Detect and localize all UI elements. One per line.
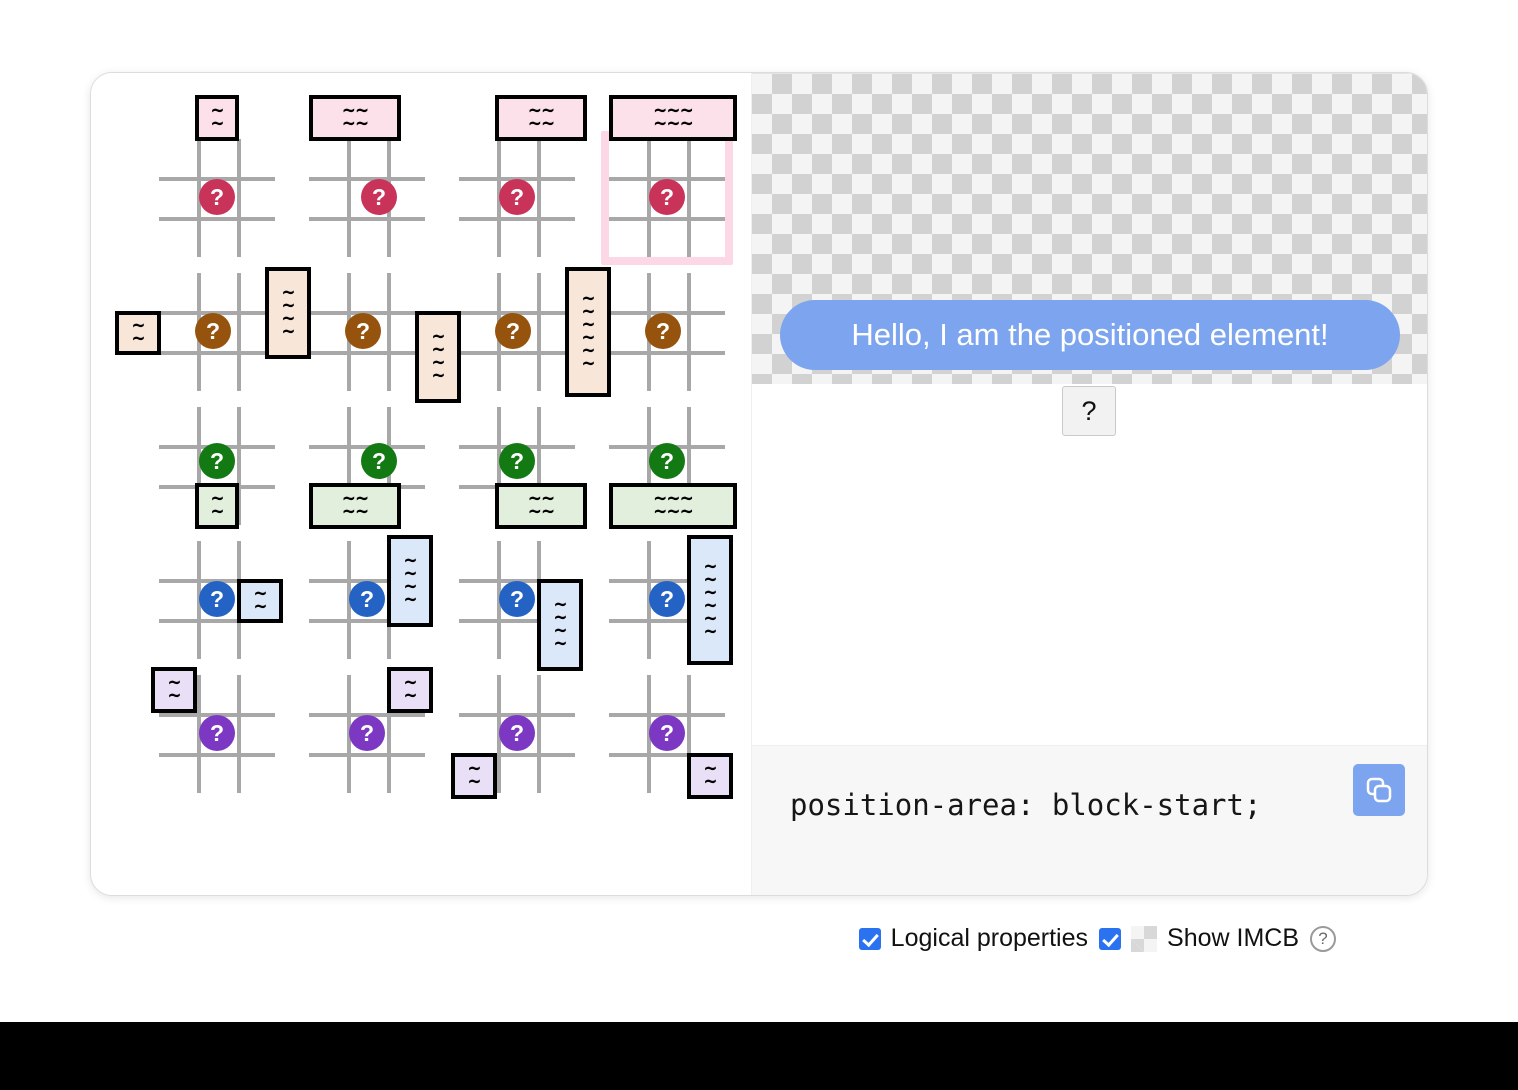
option-diagram: ∼∼∼∼? (309, 407, 425, 525)
squiggle-text-icon: ∼∼∼ (653, 117, 693, 132)
code-block: position-area: block-start; (752, 745, 1427, 895)
position-area-option[interactable]: ∼∼? (151, 533, 283, 667)
squiggle-text-icon: ∼∼ (342, 505, 369, 520)
anchor-dot-icon: ? (349, 715, 385, 751)
positioned-box-preview: ∼∼∼∼∼∼ (609, 95, 737, 141)
grid-line (159, 217, 275, 221)
grid-line (387, 273, 391, 391)
option-diagram: ∼∼? (159, 273, 275, 391)
position-area-chooser: ∼∼?∼∼∼∼?∼∼∼∼?∼∼∼∼∼∼?∼∼?∼∼∼∼?∼∼∼∼?∼∼∼∼∼∼?… (91, 73, 751, 895)
position-area-option[interactable]: ∼∼∼∼? (451, 131, 583, 265)
positioned-box-preview: ∼∼∼∼ (495, 483, 587, 529)
position-area-option[interactable]: ∼∼∼∼? (301, 399, 433, 533)
squiggle-text-icon: ∼ (131, 332, 144, 347)
positioned-element: Hello, I am the positioned element! (780, 300, 1400, 370)
anchor-dot-icon: ? (199, 443, 235, 479)
anchor-dot-icon: ? (649, 179, 685, 215)
anchor-dot-icon: ? (649, 715, 685, 751)
grid-line (159, 753, 275, 757)
squiggle-text-icon: ∼ (431, 369, 444, 384)
copy-button[interactable] (1353, 764, 1405, 816)
squiggle-text-icon: ∼ (253, 600, 266, 615)
show-imcb-control[interactable]: Show IMCB (1099, 924, 1299, 953)
copy-icon (1364, 775, 1394, 805)
position-area-option[interactable]: ∼∼? (151, 667, 283, 801)
squiggle-text-icon: ∼∼∼ (653, 505, 693, 520)
imcb-region: Hello, I am the positioned element! (752, 73, 1428, 384)
squiggle-text-icon: ∼ (403, 593, 416, 608)
app-root: ∼∼?∼∼∼∼?∼∼∼∼?∼∼∼∼∼∼?∼∼?∼∼∼∼?∼∼∼∼?∼∼∼∼∼∼?… (0, 0, 1518, 1090)
positioned-box-preview: ∼∼∼∼∼∼ (687, 535, 733, 665)
option-diagram: ∼∼? (159, 407, 275, 525)
option-diagram: ∼∼? (159, 675, 275, 793)
anchor-dot-icon: ? (645, 313, 681, 349)
position-area-option[interactable]: ∼∼∼∼∼∼? (601, 399, 733, 533)
option-diagram: ∼∼∼∼? (309, 139, 425, 257)
anchor-button[interactable]: ? (1062, 386, 1116, 436)
positioned-box-preview: ∼∼∼∼ (265, 267, 311, 359)
anchor-dot-icon: ? (199, 179, 235, 215)
option-diagram: ∼∼? (159, 541, 275, 659)
positioned-box-preview: ∼∼∼∼ (415, 311, 461, 403)
positioned-box-preview: ∼∼∼∼∼∼ (565, 267, 611, 397)
position-area-option[interactable]: ∼∼? (151, 399, 283, 533)
letterbox-bar (0, 1022, 1518, 1090)
show-imcb-checkbox[interactable] (1099, 928, 1121, 950)
positioned-box-preview: ∼∼∼∼∼∼ (609, 483, 737, 529)
position-area-option[interactable]: ∼∼∼∼? (301, 265, 433, 399)
position-area-option[interactable]: ∼∼? (151, 265, 283, 399)
anchor-dot-icon: ? (499, 443, 535, 479)
position-area-option[interactable]: ∼∼? (301, 667, 433, 801)
option-diagram: ∼∼∼∼? (309, 541, 425, 659)
squiggle-text-icon: ∼ (403, 689, 416, 704)
option-diagram: ∼∼? (159, 139, 275, 257)
squiggle-text-icon: ∼ (703, 775, 716, 790)
squiggle-text-icon: ∼ (210, 117, 223, 132)
squiggle-text-icon: ∼∼ (342, 117, 369, 132)
grid-line (347, 139, 351, 257)
option-diagram: ∼∼∼∼? (459, 407, 575, 525)
grid-line (159, 351, 275, 355)
anchor-dot-icon: ? (499, 715, 535, 751)
squiggle-text-icon: ∼ (581, 357, 594, 372)
grid-line (237, 675, 241, 793)
position-area-option[interactable]: ∼∼∼∼? (451, 265, 583, 399)
grid-line (537, 675, 541, 793)
grid-line (237, 139, 241, 257)
grid-line (537, 273, 541, 391)
grid-line (609, 351, 725, 355)
position-area-option[interactable]: ∼∼∼∼? (301, 131, 433, 265)
option-diagram: ∼∼∼∼? (459, 139, 575, 257)
position-area-option[interactable]: ∼∼∼∼∼∼? (601, 533, 733, 667)
grid-line (537, 139, 541, 257)
positioned-box-preview: ∼∼ (687, 753, 733, 799)
position-area-option[interactable]: ∼∼? (451, 667, 583, 801)
position-area-option[interactable]: ∼∼∼∼∼∼? (601, 131, 733, 265)
positioned-box-preview: ∼∼∼∼ (537, 579, 583, 671)
anchor-dot-icon: ? (361, 443, 397, 479)
squiggle-text-icon: ∼ (167, 689, 180, 704)
positioned-box-preview: ∼∼∼∼ (309, 483, 401, 529)
position-area-option[interactable]: ∼∼? (601, 667, 733, 801)
positioned-box-preview: ∼∼∼∼ (387, 535, 433, 627)
squiggle-text-icon: ∼∼ (528, 117, 555, 132)
show-imcb-label: Show IMCB (1167, 924, 1299, 953)
anchor-dot-icon: ? (199, 581, 235, 617)
preview-panel: Hello, I am the positioned element! ? po… (751, 73, 1427, 895)
option-diagram: ∼∼∼∼∼∼? (609, 273, 725, 391)
grid-line (609, 217, 725, 221)
anchor-dot-icon: ? (349, 581, 385, 617)
anchor-dot-icon: ? (345, 313, 381, 349)
option-diagram: ∼∼∼∼∼∼? (609, 139, 725, 257)
positioned-box-preview: ∼∼ (237, 579, 283, 623)
anchor-dot-icon: ? (361, 179, 397, 215)
grid-line (459, 351, 575, 355)
position-area-option[interactable]: ∼∼∼∼? (451, 399, 583, 533)
positioned-box-preview: ∼∼∼∼ (495, 95, 587, 141)
option-diagram: ∼∼? (609, 675, 725, 793)
grid-line (237, 273, 241, 391)
squiggle-text-icon: ∼∼ (528, 505, 555, 520)
squiggle-text-icon: ∼ (553, 637, 566, 652)
grid-line (459, 217, 575, 221)
position-area-grid[interactable]: ∼∼?∼∼∼∼?∼∼∼∼?∼∼∼∼∼∼?∼∼?∼∼∼∼?∼∼∼∼?∼∼∼∼∼∼?… (151, 131, 691, 801)
positioned-box-preview: ∼∼∼∼ (309, 95, 401, 141)
option-diagram: ∼∼∼∼∼∼? (609, 541, 725, 659)
anchor-dot-icon: ? (495, 313, 531, 349)
logical-properties-control[interactable]: Logical properties (859, 924, 1088, 953)
grid-line (687, 273, 691, 391)
option-diagram: ∼∼∼∼∼∼? (609, 407, 725, 525)
checkerboard-swatch-icon (1131, 926, 1157, 952)
squiggle-text-icon: ∼ (210, 505, 223, 520)
anchor-dot-icon: ? (195, 313, 231, 349)
option-diagram: ∼∼∼∼? (459, 541, 575, 659)
grid-line (687, 139, 691, 257)
positioned-box-preview: ∼∼ (151, 667, 197, 713)
positioned-box-preview: ∼∼ (195, 483, 239, 529)
code-snippet: position-area: block-start; (790, 788, 1261, 822)
anchor-dot-icon: ? (649, 443, 685, 479)
visualizer-card: ∼∼?∼∼∼∼?∼∼∼∼?∼∼∼∼∼∼?∼∼?∼∼∼∼?∼∼∼∼?∼∼∼∼∼∼?… (90, 72, 1428, 896)
squiggle-text-icon: ∼ (467, 775, 480, 790)
option-diagram: ∼∼? (459, 675, 575, 793)
logical-properties-label: Logical properties (891, 924, 1088, 953)
grid-line (309, 217, 425, 221)
option-diagram: ∼∼? (309, 675, 425, 793)
positioned-box-preview: ∼∼ (387, 667, 433, 713)
position-area-option[interactable]: ∼∼∼∼? (451, 533, 583, 667)
squiggle-text-icon: ∼ (703, 625, 716, 640)
anchor-dot-icon: ? (199, 715, 235, 751)
positioned-box-preview: ∼∼ (451, 753, 497, 799)
anchor-dot-icon: ? (499, 179, 535, 215)
footer-controls: Logical properties Show IMCB ? (0, 924, 1428, 953)
positioned-box-preview: ∼∼ (195, 95, 239, 141)
help-icon[interactable]: ? (1310, 926, 1336, 952)
grid-line (309, 753, 425, 757)
option-diagram: ∼∼∼∼? (459, 273, 575, 391)
position-area-option[interactable]: ∼∼∼∼? (301, 533, 433, 667)
option-diagram: ∼∼∼∼? (309, 273, 425, 391)
positioned-box-preview: ∼∼ (115, 311, 161, 355)
anchor-dot-icon: ? (649, 581, 685, 617)
logical-properties-checkbox[interactable] (859, 928, 881, 950)
grid-line (309, 177, 425, 181)
squiggle-text-icon: ∼ (281, 325, 294, 340)
grid-line (309, 351, 425, 355)
anchor-dot-icon: ? (499, 581, 535, 617)
position-area-option[interactable]: ∼∼? (151, 131, 283, 265)
position-area-option[interactable]: ∼∼∼∼∼∼? (601, 265, 733, 399)
